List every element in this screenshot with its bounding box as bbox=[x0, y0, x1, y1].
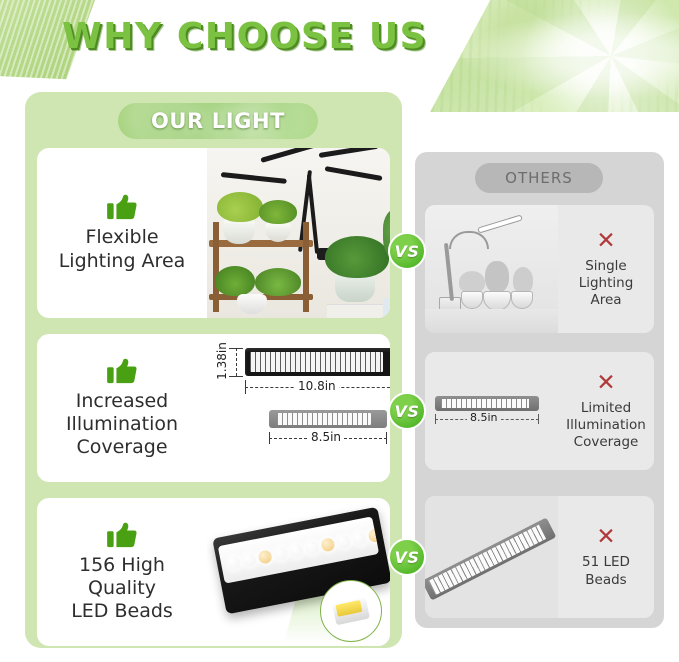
other-feature-card-1: ✕ Single Lighting Area bbox=[425, 205, 654, 333]
thumbs-up-icon bbox=[107, 522, 137, 548]
feature-label-2-line3: Coverage bbox=[76, 437, 167, 458]
others-badge: OTHERS bbox=[475, 163, 603, 193]
other-text-block-1: ✕ Single Lighting Area bbox=[558, 205, 654, 333]
thumbs-up-icon bbox=[107, 358, 137, 384]
led-bead-closeup-photo bbox=[207, 498, 390, 646]
page-title: WHY CHOOSE US bbox=[62, 16, 462, 57]
dimension-width-label: 10.8in bbox=[295, 379, 339, 393]
other-label-2-line1: Limited bbox=[581, 400, 631, 416]
other-text-block-2: ✕ Limited Illumination Coverage bbox=[558, 352, 654, 470]
gray-led-bar-photo bbox=[425, 496, 558, 618]
single-arm-lamp-grayscale-photo bbox=[425, 205, 558, 333]
our-light-badge: OUR LIGHT bbox=[118, 103, 318, 139]
other-dimension-label: 8.5in bbox=[467, 411, 501, 424]
other-text-block-3: ✕ 51 LED Beads bbox=[558, 496, 654, 618]
our-feature-card-2: Increased Illumination Coverage 1.38in bbox=[37, 334, 390, 482]
feature-label-1-line1: Flexible bbox=[85, 227, 158, 248]
dimension-compare-label: 8.5in bbox=[308, 430, 344, 444]
feature-label-2-line1: Increased bbox=[76, 391, 168, 412]
feature-text-block-3: 156 High Quality LED Beads bbox=[37, 498, 207, 646]
short-light-bar-diagram: 8.5in bbox=[425, 352, 558, 470]
vs-badge-3: VS bbox=[388, 538, 426, 576]
other-feature-card-3: ✕ 51 LED Beads bbox=[425, 496, 654, 618]
feature-label-3-line3: LED Beads bbox=[71, 601, 173, 622]
feature-label-2-line2: Illumination bbox=[66, 414, 178, 435]
x-mark-icon: ✕ bbox=[596, 230, 615, 253]
feature-text-block-2: Increased Illumination Coverage bbox=[37, 334, 207, 482]
feature-label-1-line2: Lighting Area bbox=[59, 251, 186, 272]
light-bar-dimension-diagram: 1.38in 10.8in 8.5in bbox=[207, 334, 390, 482]
other-feature-card-2: 8.5in ✕ Limited Illumination Coverage bbox=[425, 352, 654, 470]
grow-light-over-plants-photo bbox=[207, 148, 390, 318]
other-label-3-line1: 51 LED bbox=[582, 554, 630, 570]
feature-label-3-line2: Quality bbox=[88, 578, 156, 599]
other-label-2-line2: Illumination bbox=[566, 417, 646, 433]
dimension-height-label: 1.38in bbox=[215, 338, 229, 384]
feature-text-block-1: Flexible Lighting Area bbox=[37, 148, 207, 318]
other-label-2-line3: Coverage bbox=[574, 434, 639, 450]
led-chip-inset bbox=[320, 580, 382, 642]
feature-label-3-line1: 156 High bbox=[79, 555, 165, 576]
thumbs-up-icon bbox=[107, 194, 137, 220]
other-label-3-line2: Beads bbox=[585, 572, 626, 588]
infographic-page: WHY CHOOSE US OUR LIGHT OTHERS Flexible … bbox=[0, 0, 679, 662]
x-mark-icon: ✕ bbox=[596, 372, 615, 395]
vs-badge-2: VS bbox=[388, 392, 426, 430]
our-feature-card-1: Flexible Lighting Area bbox=[37, 148, 390, 318]
other-label-1-line1: Single bbox=[585, 258, 627, 274]
other-label-1-line2: Lighting Area bbox=[562, 275, 650, 307]
vs-badge-1: VS bbox=[388, 232, 426, 270]
x-mark-icon: ✕ bbox=[596, 526, 615, 549]
our-feature-card-3: 156 High Quality LED Beads bbox=[37, 498, 390, 646]
